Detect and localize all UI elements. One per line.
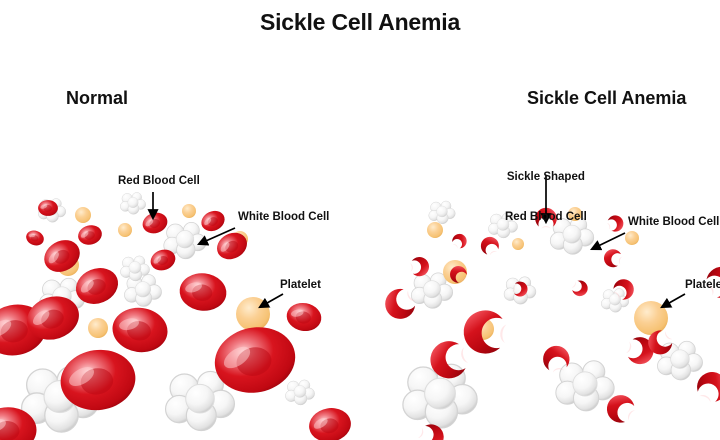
label-platelet-2: Platelet bbox=[685, 279, 720, 292]
illustration-canvas: Sickle Cell Anemia Normal Sickle Cell An… bbox=[0, 0, 720, 440]
panel-heading-normal: Normal bbox=[66, 88, 128, 109]
label-platelet: Platelet bbox=[280, 279, 321, 292]
arrow-platelet bbox=[260, 294, 283, 307]
label-white-blood-cell: White Blood Cell bbox=[238, 211, 329, 224]
arrow-platelet-2 bbox=[662, 294, 685, 307]
label-sickle-line-1: Sickle Shaped bbox=[505, 171, 587, 184]
label-sickle-line-2: Red Blood Cell bbox=[505, 211, 587, 224]
arrow-white-blood-cell bbox=[199, 228, 235, 244]
figure-title: Sickle Cell Anemia bbox=[0, 9, 720, 35]
callout-arrows-layer bbox=[0, 0, 720, 440]
arrow-white-blood-cell-2 bbox=[592, 233, 625, 249]
label-white-blood-cell-2: White Blood Cell bbox=[628, 216, 719, 229]
panel-heading-sickle: Sickle Cell Anemia bbox=[527, 88, 686, 109]
label-sickle-red-blood-cell: Sickle Shaped Red Blood Cell bbox=[505, 145, 587, 251]
label-red-blood-cell: Red Blood Cell bbox=[118, 175, 200, 188]
